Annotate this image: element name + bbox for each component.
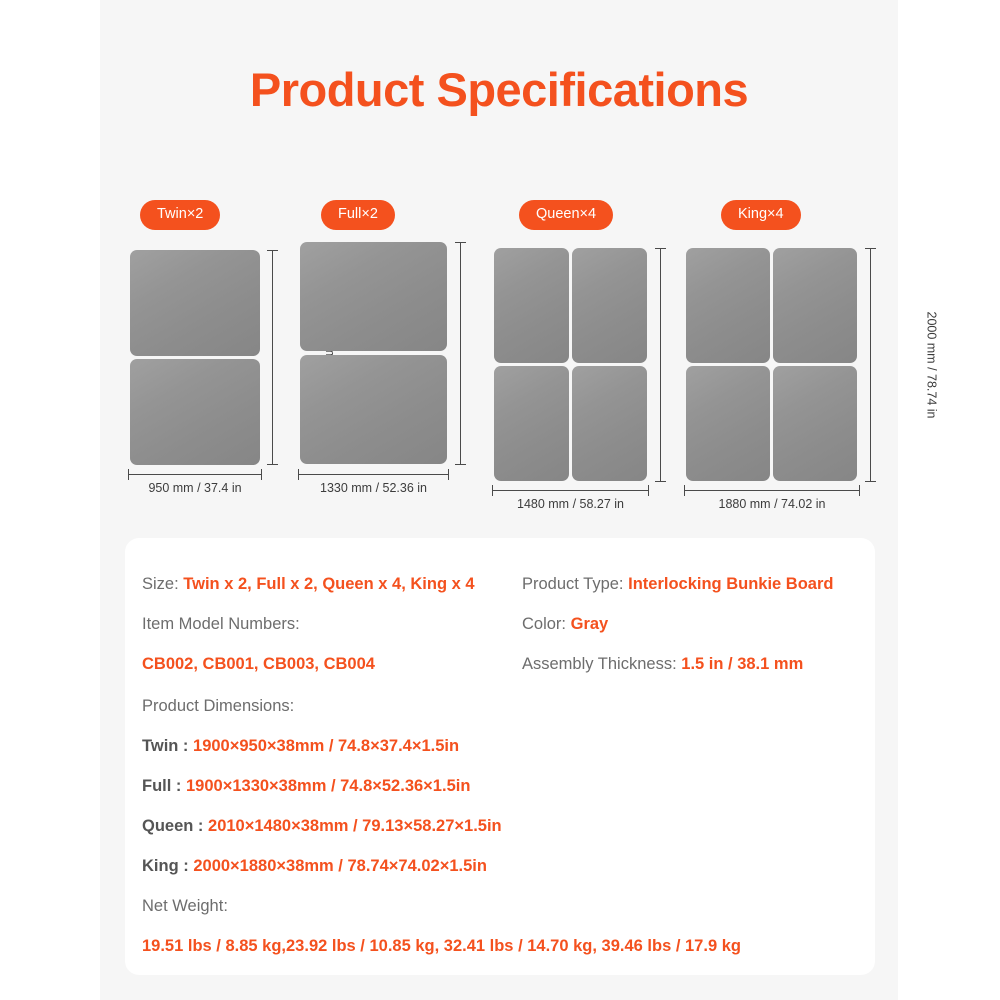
spec-label-size: Size: — [142, 575, 179, 593]
board-panel — [572, 366, 647, 481]
dimension-label-width-twin: 950 mm / 37.4 in — [148, 481, 241, 495]
product-dimension-name-king: King : — [142, 857, 189, 875]
page-title: Product Specifications — [100, 62, 898, 117]
product-dimension-name-twin: Twin : — [142, 737, 188, 755]
product-dimension-value-twin: 1900×950×38mm / 74.8×37.4×1.5in — [193, 737, 459, 755]
dimension-line-height-full: 1900 mm / 74.8 in — [460, 242, 461, 465]
product-dimension-value-full: 1900×1330×38mm / 74.8×52.36×1.5in — [186, 777, 470, 795]
product-dimension-value-king: 2000×1880×38mm / 78.74×74.02×1.5in — [193, 857, 487, 875]
spec-label-product-dimensions: Product Dimensions: — [142, 686, 859, 726]
board-panel — [130, 250, 260, 356]
dimension-line-width-full: 1330 mm / 52.36 in — [298, 474, 449, 475]
size-diagram: Twin×2 1900 mm / 74.8 in 950 mm / 37.4 i… — [100, 180, 898, 510]
product-dimension-row-king: King : 2000×1880×38mm / 78.74×74.02×1.5i… — [142, 846, 859, 886]
size-badge-twin: Twin×2 — [140, 200, 220, 230]
board-king — [686, 248, 858, 482]
product-dimension-name-full: Full : — [142, 777, 181, 795]
spec-label-net-weight: Net Weight: — [142, 886, 859, 926]
spec-value-size: Twin x 2, Full x 2, Queen x 4, King x 4 — [183, 575, 474, 593]
dimension-line-height-queen: 2010 mm / 79.13 in — [660, 248, 661, 482]
spec-row-color: Color: Gray — [522, 604, 859, 644]
product-dimension-row-twin: Twin : 1900×950×38mm / 74.8×37.4×1.5in — [142, 726, 859, 766]
board-panel — [686, 366, 770, 481]
board-panel — [300, 242, 447, 351]
spec-row-product-type: Product Type: Interlocking Bunkie Board — [522, 564, 859, 604]
spec-label-product-type: Product Type: — [522, 575, 624, 593]
board-panel — [130, 359, 260, 465]
spec-value-product-type: Interlocking Bunkie Board — [628, 575, 833, 593]
dimension-line-width-king: 1880 mm / 74.02 in — [684, 490, 860, 491]
spec-label-color: Color: — [522, 615, 566, 633]
spec-value-color: Gray — [571, 615, 609, 633]
dimension-line-width-twin: 950 mm / 37.4 in — [128, 474, 262, 475]
size-badge-full: Full×2 — [321, 200, 395, 230]
spec-label-item-model-numbers: Item Model Numbers: — [142, 604, 522, 644]
specifications-content: Size: Twin x 2, Full x 2, Queen x 4, Kin… — [142, 564, 859, 966]
dimension-line-height-king: 2000 mm / 78.74 in — [870, 248, 871, 482]
board-panel — [686, 248, 770, 363]
size-badge-king: King×4 — [721, 200, 801, 230]
dimension-label-width-king: 1880 mm / 74.02 in — [718, 497, 825, 511]
product-dimension-row-queen: Queen : 2010×1480×38mm / 79.13×58.27×1.5… — [142, 806, 859, 846]
spec-value-item-model-numbers: CB002, CB001, CB003, CB004 — [142, 655, 375, 673]
product-dimensions-block: Product Dimensions: Twin : 1900×950×38mm… — [142, 686, 859, 886]
board-panel — [300, 355, 447, 464]
spec-label-assembly-thickness: Assembly Thickness: — [522, 655, 677, 673]
product-dimension-name-queen: Queen : — [142, 817, 203, 835]
specifications-left-column: Size: Twin x 2, Full x 2, Queen x 4, Kin… — [142, 564, 522, 684]
spec-row-item-model-numbers: CB002, CB001, CB003, CB004 — [142, 644, 522, 684]
board-queen — [494, 248, 647, 482]
dimension-label-width-full: 1330 mm / 52.36 in — [320, 481, 427, 495]
product-dimension-row-full: Full : 1900×1330×38mm / 74.8×52.36×1.5in — [142, 766, 859, 806]
spec-row-assembly-thickness: Assembly Thickness: 1.5 in / 38.1 mm — [522, 644, 859, 684]
product-spec-page: Product Specifications Twin×2 1900 mm / … — [0, 0, 1000, 1000]
specifications-card: Size: Twin x 2, Full x 2, Queen x 4, Kin… — [125, 538, 875, 975]
board-panel — [773, 366, 857, 481]
dimension-label-width-queen: 1480 mm / 58.27 in — [517, 497, 624, 511]
specifications-right-column: Product Type: Interlocking Bunkie Board … — [522, 564, 859, 684]
spec-value-assembly-thickness: 1.5 in / 38.1 mm — [681, 655, 803, 673]
board-full — [300, 242, 447, 465]
board-panel — [494, 366, 569, 481]
spec-row-size: Size: Twin x 2, Full x 2, Queen x 4, Kin… — [142, 564, 522, 604]
board-twin — [130, 250, 260, 465]
board-panel — [773, 248, 857, 363]
specifications-columns: Size: Twin x 2, Full x 2, Queen x 4, Kin… — [142, 564, 859, 684]
dimension-line-height-twin: 1900 mm / 74.8 in — [272, 250, 273, 465]
board-panel — [572, 248, 647, 363]
size-badge-queen: Queen×4 — [519, 200, 613, 230]
dimension-label-height-king: 2000 mm / 78.74 in — [925, 311, 939, 418]
board-panel — [494, 248, 569, 363]
dimension-line-width-queen: 1480 mm / 58.27 in — [492, 490, 649, 491]
spec-value-net-weight: 19.51 lbs / 8.85 kg,23.92 lbs / 10.85 kg… — [142, 926, 859, 966]
product-dimension-value-queen: 2010×1480×38mm / 79.13×58.27×1.5in — [208, 817, 502, 835]
